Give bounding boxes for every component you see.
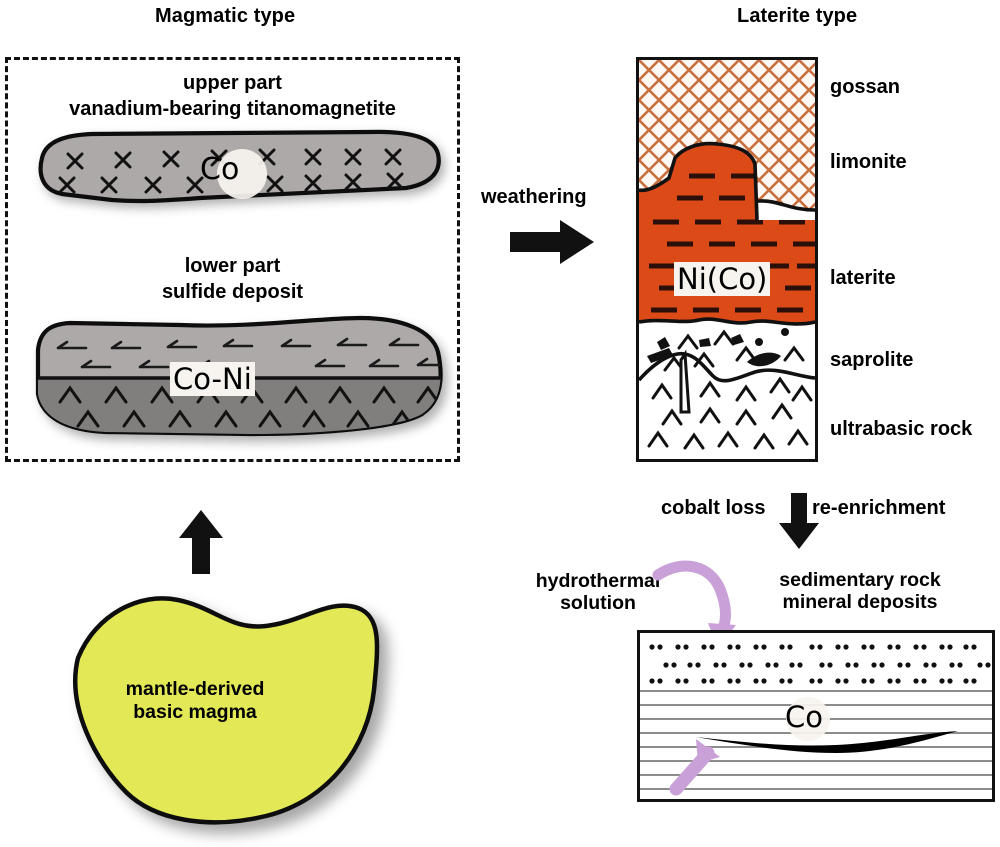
sedimentary-label-line2: mineral deposits: [720, 592, 1000, 614]
page-title-magmatic: Magmatic type: [155, 5, 295, 28]
upper-part-label-line2: vanadium-bearing titanomagnetite: [20, 98, 445, 120]
magma-label-line2: basic magma: [80, 702, 310, 724]
magma-label-line1: mantle-derived: [80, 679, 310, 701]
laterite-column: [636, 57, 818, 462]
sedimentary-co-label: Co: [785, 700, 823, 734]
layer-label-laterite: laterite: [830, 267, 896, 289]
layer-label-limonite: limonite: [830, 151, 907, 173]
saprolite-layer: [639, 332, 815, 412]
laterite-nico-label: Ni(Co): [674, 262, 770, 296]
sedimentary-label-line1: sedimentary rock: [720, 570, 1000, 592]
layer-label-ultrabasic: ultrabasic rock: [830, 418, 972, 440]
sulfide-coni-label: Co-Ni: [170, 362, 255, 396]
ultrabasic-layer: [649, 379, 811, 448]
upper-part-label-line1: upper part: [30, 72, 435, 94]
dot-pairs-pattern: [649, 644, 990, 683]
layer-label-gossan: gossan: [830, 76, 900, 98]
lower-part-label-line1: lower part: [30, 255, 435, 277]
ore-lens: [696, 731, 958, 753]
re-enrichment-label: re-enrichment: [812, 497, 945, 519]
arrow-down-icon: [776, 491, 822, 551]
arrow-right-icon: [508, 218, 598, 266]
titanomagnetite-co-label: Co: [200, 152, 239, 187]
layer-label-saprolite: saprolite: [830, 349, 913, 371]
arrow-up-icon: [176, 508, 226, 576]
cobalt-loss-label: cobalt loss: [661, 497, 765, 519]
page-title-laterite: Laterite type: [737, 5, 857, 28]
lower-part-label-line2: sulfide deposit: [30, 281, 435, 303]
weathering-label: weathering: [481, 186, 587, 208]
